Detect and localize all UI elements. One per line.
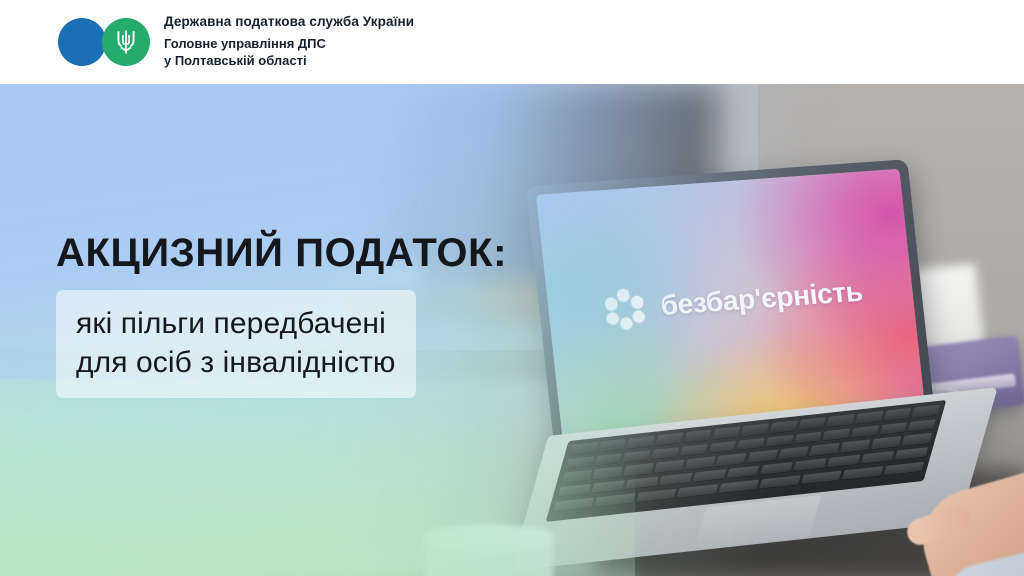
subtitle-line-2: для осіб з інвалідністю bbox=[76, 343, 396, 382]
subtitle-line-1: які пільги передбачені bbox=[76, 304, 396, 343]
white-cup bbox=[425, 529, 553, 576]
dps-logo bbox=[58, 18, 150, 66]
org-sub-line-1: Головне управління ДПС bbox=[164, 35, 414, 52]
org-name-block: Державна податкова служба України Головн… bbox=[164, 14, 414, 69]
page-title: АКЦИЗНИЙ ПОДАТОК: bbox=[56, 232, 507, 275]
site-header: Державна податкова служба України Головн… bbox=[0, 0, 1024, 84]
logo-blue-circle-icon bbox=[58, 18, 106, 66]
six-dot-ring-icon bbox=[603, 287, 647, 330]
bezbarjernist-brand: безбар'єрність bbox=[603, 272, 865, 330]
poster-page: Державна податкова служба України Головн… bbox=[0, 0, 1024, 576]
logo-green-circle-icon bbox=[102, 18, 150, 66]
org-main-title: Державна податкова служба України bbox=[164, 14, 414, 31]
subtitle-panel: які пільги передбачені для осіб з інвалі… bbox=[56, 290, 416, 398]
ukraine-trident-icon bbox=[116, 29, 136, 55]
org-sub-title: Головне управління ДПС у Полтавській обл… bbox=[164, 35, 414, 69]
brand-wordmark: безбар'єрність bbox=[659, 276, 864, 322]
org-sub-line-2: у Полтавській області bbox=[164, 52, 414, 69]
